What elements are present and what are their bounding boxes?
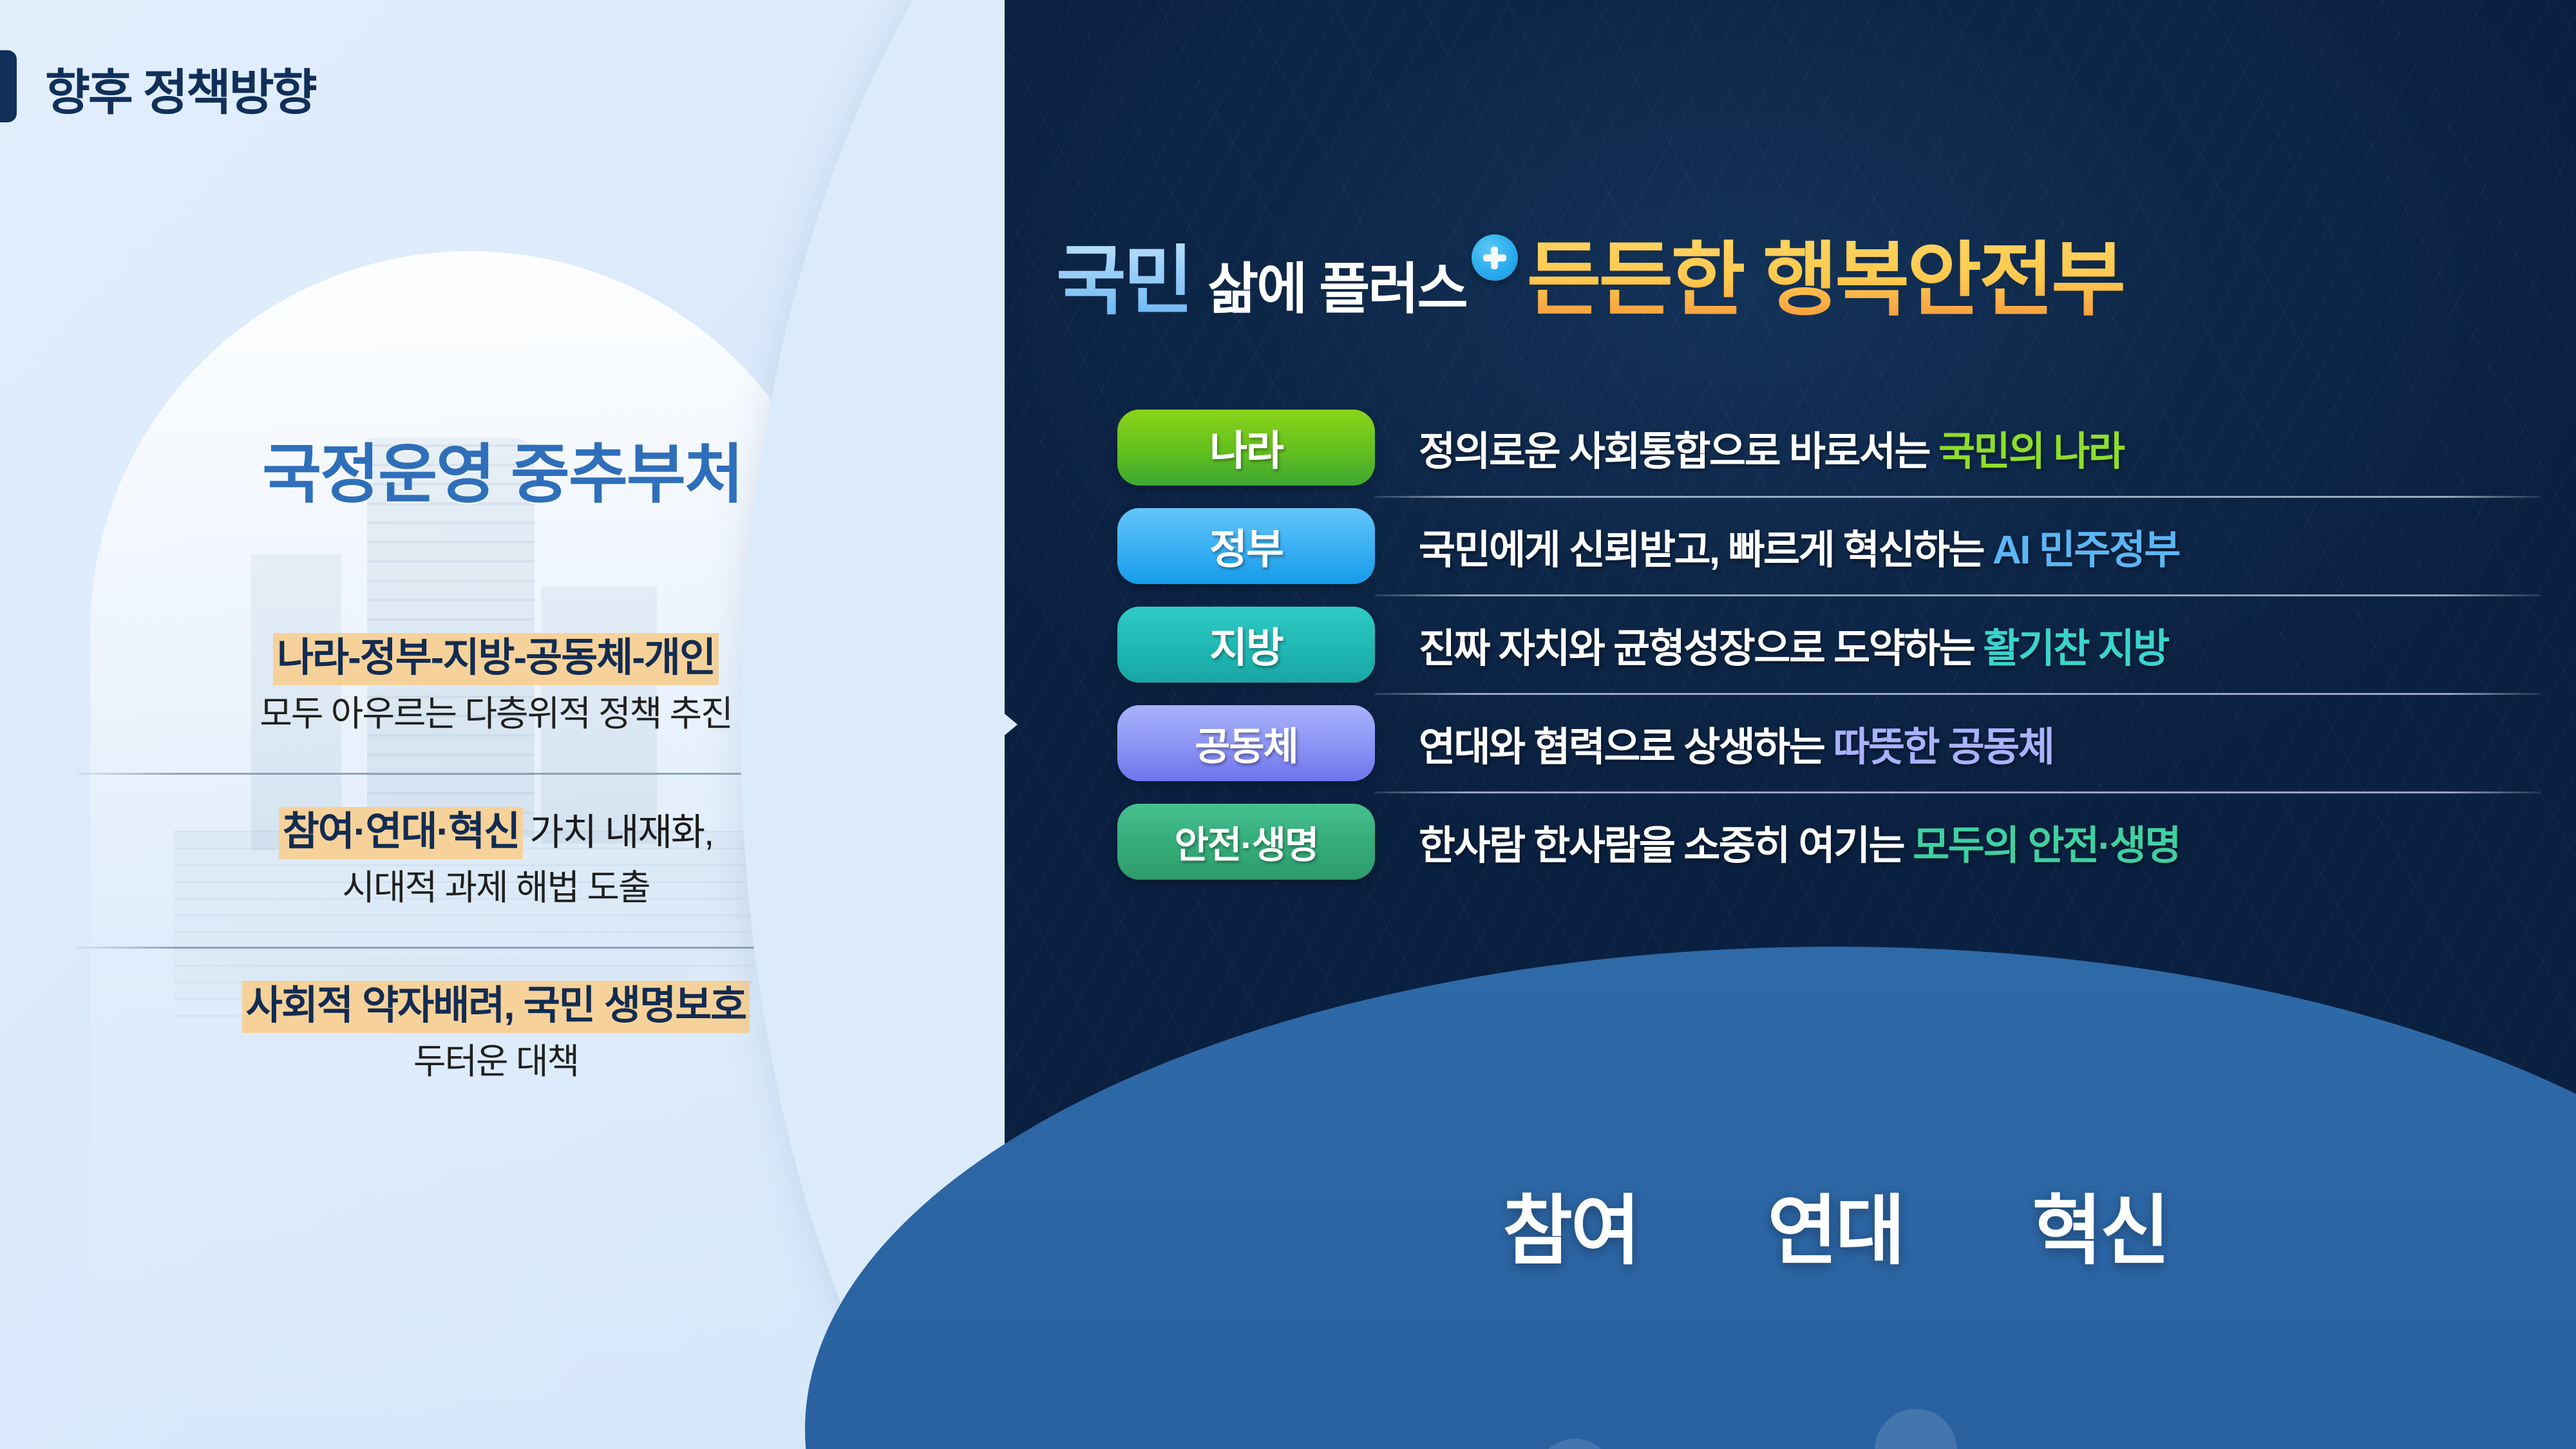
- pill-safety-life[interactable]: 안전·생명: [1117, 804, 1375, 880]
- policy-row-text: 정의로운 사회통합으로 바로서는국민의 나라: [1419, 419, 2123, 477]
- policy-row-accent: 활기찬 지방: [1983, 627, 2168, 671]
- policy-row-lead: 국민에게 신뢰받고, 빠르게 혁신하는: [1419, 528, 1984, 573]
- title-accent-bar: [0, 50, 17, 122]
- policy-row-accent: AI 민주정부: [1993, 528, 2179, 573]
- pill-local[interactable]: 지방: [1117, 607, 1375, 683]
- slide-root: 참여 연대 혁신 국민 삶에 플러스 든든한 행복안전부 나라 정의로운 사회통…: [0, 0, 2576, 1449]
- left-block-highlight: 나라-정부-지방-공동체-개인: [273, 633, 719, 685]
- pill-community[interactable]: 공동체: [1117, 705, 1375, 781]
- policy-row-accent: 모두의 안전·생명: [1913, 824, 2180, 868]
- page-title: 향후 정책방향: [45, 53, 316, 124]
- headline-gukmin: 국민: [1056, 243, 1191, 321]
- policy-row-accent: 따뜻한 공동체: [1833, 725, 2053, 770]
- left-block-tail: 가치 내재화,: [523, 811, 713, 853]
- policy-row-lead: 연대와 협력으로 상생하는: [1419, 725, 1824, 770]
- policy-row-text: 국민에게 신뢰받고, 빠르게 혁신하는AI 민주정부: [1419, 517, 2179, 575]
- policy-row[interactable]: 지방 진짜 자치와 균형성장으로 도약하는활기찬 지방: [1117, 596, 2541, 693]
- banner-word-participation: 참여: [1502, 1169, 1638, 1279]
- policy-rows: 나라 정의로운 사회통합으로 바로서는국민의 나라 정부 국민에게 신뢰받고, …: [1117, 399, 2541, 890]
- headline-salme: 삶에 플러스: [1207, 261, 1466, 321]
- policy-row-accent: 국민의 나라: [1938, 430, 2123, 474]
- policy-row-text: 진짜 자치와 균형성장으로 도약하는활기찬 지방: [1419, 616, 2168, 674]
- policy-row[interactable]: 나라 정의로운 사회통합으로 바로서는국민의 나라: [1117, 399, 2541, 496]
- policy-row[interactable]: 안전·생명 한사람 한사람을 소중히 여기는모두의 안전·생명: [1117, 793, 2541, 890]
- banner-word-solidarity: 연대: [1767, 1169, 1903, 1279]
- main-headline: 국민 삶에 플러스 든든한 행복안전부: [1056, 205, 2537, 321]
- left-block-highlight: 참여·연대·혁신: [279, 807, 524, 859]
- policy-row[interactable]: 공동체 연대와 협력으로 상생하는따뜻한 공동체: [1117, 695, 2541, 791]
- banner-words: 참여 연대 혁신: [805, 1169, 2576, 1279]
- headline-ministry: 든든한 행복안전부: [1527, 240, 2123, 321]
- banner-word-innovation: 혁신: [2032, 1169, 2168, 1279]
- left-block-highlight: 사회적 약자배려, 국민 생명보호: [242, 981, 750, 1033]
- pill-government[interactable]: 정부: [1117, 508, 1375, 584]
- policy-row-lead: 한사람 한사람을 소중히 여기는: [1419, 824, 1904, 868]
- policy-row-text: 한사람 한사람을 소중히 여기는모두의 안전·생명: [1419, 813, 2180, 871]
- people-silhouettes: [805, 1385, 2576, 1449]
- policy-row-lead: 진짜 자치와 균형성장으로 도약하는: [1419, 627, 1974, 671]
- policy-row-lead: 정의로운 사회통합으로 바로서는: [1419, 430, 1929, 474]
- plus-badge-icon: [1472, 234, 1518, 281]
- policy-row-text: 연대와 협력으로 상생하는따뜻한 공동체: [1419, 714, 2053, 772]
- pill-nara[interactable]: 나라: [1117, 410, 1375, 486]
- policy-row[interactable]: 정부 국민에게 신뢰받고, 빠르게 혁신하는AI 민주정부: [1117, 498, 2541, 594]
